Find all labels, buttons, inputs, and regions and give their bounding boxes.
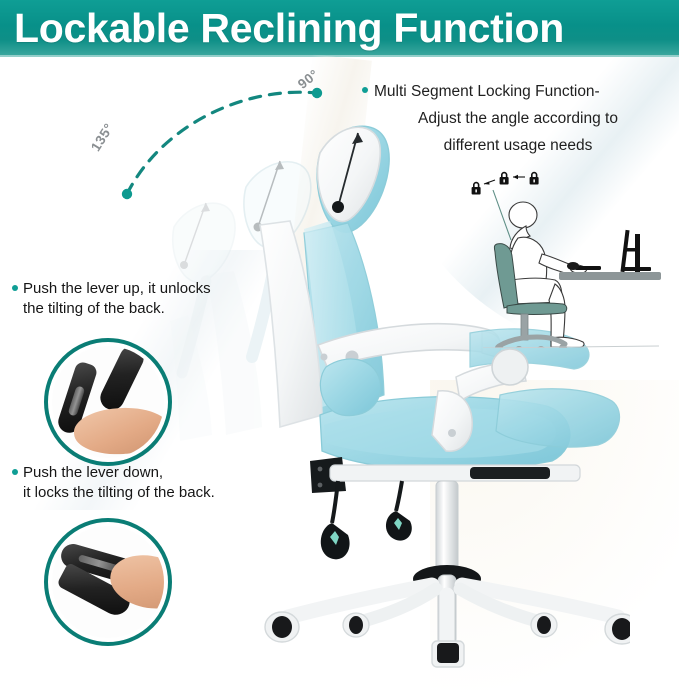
chair-lever-right[interactable] bbox=[386, 481, 412, 541]
lock-icon-group bbox=[472, 172, 539, 195]
padlock-icon-2 bbox=[500, 172, 509, 185]
recline-guide-line bbox=[493, 190, 511, 240]
bullet-dot-icon bbox=[12, 285, 18, 291]
padlock-icon-3 bbox=[530, 172, 539, 185]
page-header: Lockable Reclining Function bbox=[0, 0, 679, 57]
desk-and-monitor bbox=[559, 230, 661, 280]
arrow-icon-1 bbox=[484, 180, 495, 185]
callout-lever-down-line-2: it locks the tilting of the back. bbox=[12, 483, 262, 503]
page-title: Lockable Reclining Function bbox=[14, 2, 564, 55]
inset-photo-lever-up bbox=[44, 338, 172, 466]
callout-lever-up: Push the lever up, it unlocks the tiltin… bbox=[12, 279, 262, 318]
padlock-icon-1 bbox=[472, 182, 481, 195]
inset-photo-lever-down-image bbox=[52, 526, 164, 638]
arrow-icon-2 bbox=[513, 175, 525, 179]
inset-photo-lever-up-image bbox=[52, 346, 164, 458]
chair-gas-cylinder bbox=[436, 481, 458, 577]
headrest-active bbox=[317, 126, 389, 232]
callout-lever-up-line-1: Push the lever up, it unlocks bbox=[23, 280, 211, 297]
arc-endpoint-135 bbox=[122, 189, 132, 199]
callout-lever-down-line-1: Push the lever down, bbox=[23, 464, 163, 481]
person-at-desk-diagram bbox=[463, 168, 663, 348]
lever-handle-b bbox=[96, 346, 147, 414]
hand-graphic bbox=[73, 405, 164, 458]
callout-lever-up-line-2: the tilting of the back. bbox=[12, 299, 262, 319]
chair-lever-left[interactable] bbox=[321, 481, 350, 559]
callout-lever-down: Push the lever down, it locks the tiltin… bbox=[12, 463, 262, 502]
bullet-dot-icon bbox=[12, 469, 18, 475]
chair-base bbox=[288, 585, 618, 643]
inset-photo-lever-down bbox=[44, 518, 172, 646]
